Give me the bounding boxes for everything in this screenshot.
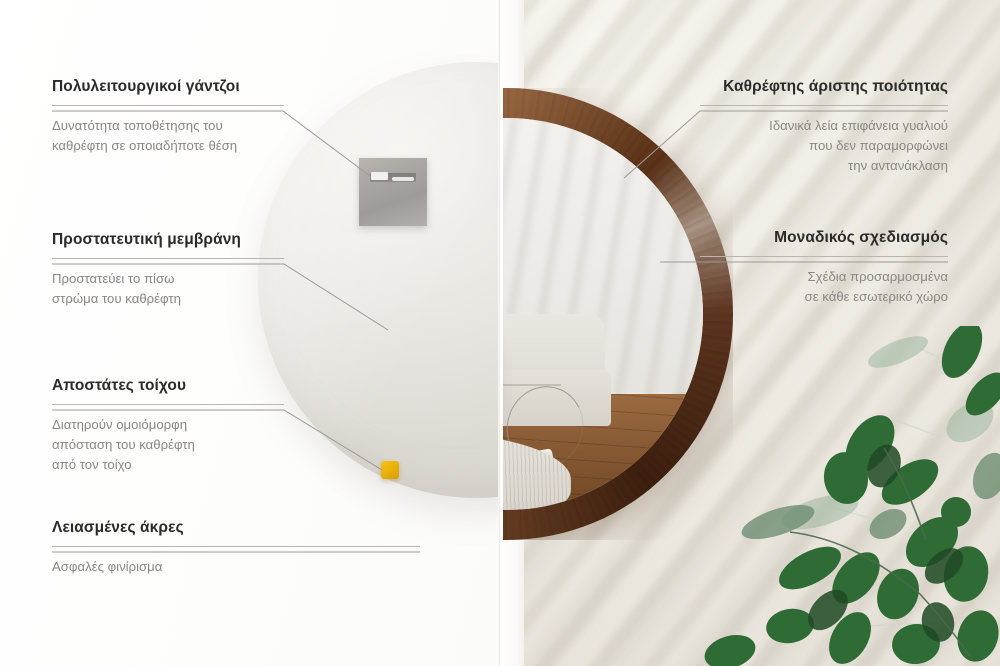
mirror-back-sheen — [258, 62, 498, 498]
callout-design-desc: Σχέδια προσαρμοσμένασε κάθε εσωτερικό χώ… — [700, 267, 948, 307]
callout-design: Μοναδικός σχεδιασμός Σχέδια προσαρμοσμέν… — [700, 229, 948, 307]
callout-hooks: Πολυλειτουργικοί γάντζοι Δυνατότητα τοπο… — [52, 78, 284, 156]
callout-membrane-title: Προστατευτική μεμβράνη — [52, 231, 284, 249]
callout-hooks-desc: Δυνατότητα τοποθέτησης τουκαθρέφτη σε οπ… — [52, 116, 284, 156]
callout-membrane-desc: Προστατεύει το πίσωστρώμα του καθρέφτη — [52, 269, 284, 309]
callout-quality-rule — [700, 105, 948, 106]
callout-hooks-title: Πολυλειτουργικοί γάντζοι — [52, 78, 284, 96]
wall-spacer-marker — [381, 461, 399, 479]
callout-membrane-rule — [52, 258, 284, 259]
callout-spacers-title: Αποστάτες τοίχου — [52, 377, 284, 395]
callout-hooks-rule — [52, 105, 284, 106]
callout-quality-title: Καθρέφτης άριστης ποιότητας — [700, 78, 948, 96]
callout-spacers: Αποστάτες τοίχου Διατηρούν ομοιόμορφηαπό… — [52, 377, 284, 475]
hook-slot-highlight-2 — [392, 177, 414, 181]
callout-edges-title: Λειασμένες άκρες — [52, 519, 420, 537]
callout-spacers-desc: Διατηρούν ομοιόμορφηαπόσταση του καθρέφτ… — [52, 415, 284, 475]
callout-spacers-rule — [52, 404, 284, 405]
callout-quality: Καθρέφτης άριστης ποιότητας Ιδανικά λεία… — [700, 78, 948, 176]
callout-membrane: Προστατευτική μεμβράνη Προστατεύει το πί… — [52, 231, 284, 309]
callout-quality-desc: Ιδανικά λεία επιφάνεια γυαλιούπου δεν πα… — [700, 116, 948, 176]
hook-slot-highlight — [371, 172, 388, 180]
callout-edges-rule — [52, 546, 420, 547]
mirror-back-view — [258, 62, 498, 498]
foliage-decoration — [670, 326, 1000, 666]
callout-design-rule — [700, 256, 948, 257]
callout-design-title: Μοναδικός σχεδιασμός — [700, 229, 948, 247]
infographic-canvas: Πολυλειτουργικοί γάντζοι Δυνατότητα τοπο… — [0, 0, 1000, 666]
hook-plate — [359, 158, 427, 226]
callout-edges: Λειασμένες άκρες Ασφαλές φινίρισμα — [52, 519, 420, 577]
callout-edges-desc: Ασφαλές φινίρισμα — [52, 557, 420, 577]
